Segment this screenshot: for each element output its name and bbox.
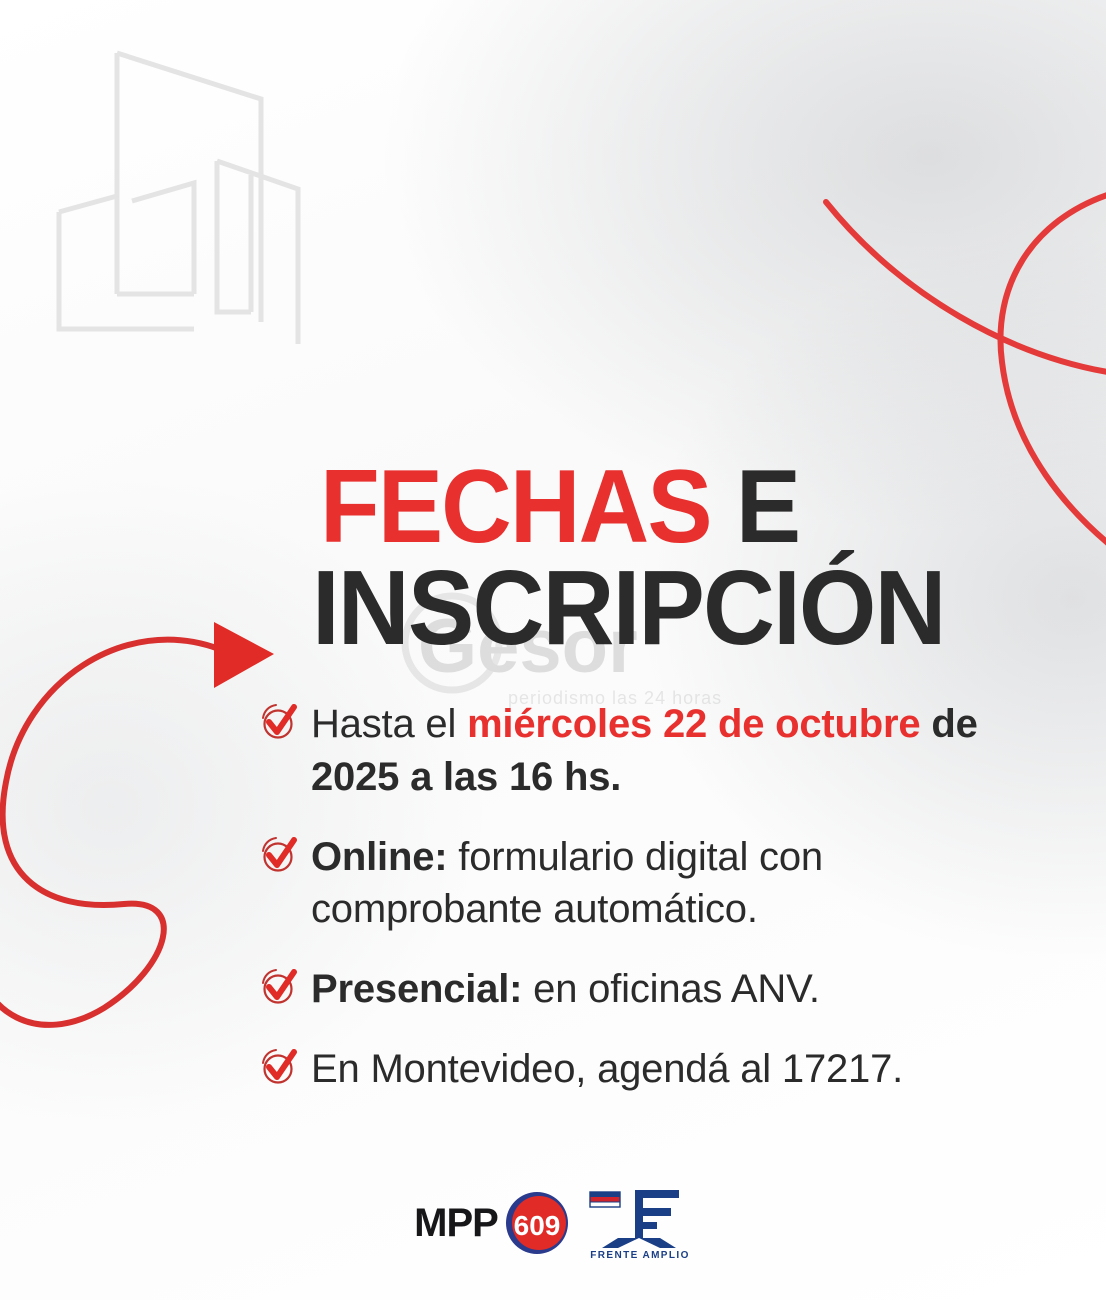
check-circle-icon bbox=[258, 1047, 298, 1087]
buildings-outline-icon bbox=[46, 44, 346, 384]
check-circle-icon bbox=[258, 967, 298, 1007]
check-circle-icon bbox=[258, 835, 298, 875]
frente-amplio-label: FRENTE AMPLIO bbox=[590, 1250, 690, 1260]
headline-line-1: FECHAS E bbox=[320, 458, 1008, 558]
bullet-list: Hasta el miércoles 22 de octubre de 2025… bbox=[258, 698, 1058, 1096]
bullet-4-part-0: En Montevideo, agendá al 17217. bbox=[311, 1047, 903, 1091]
frente-amplio-logo: FRENTE AMPLIO bbox=[588, 1186, 692, 1260]
headline-e: E bbox=[711, 449, 800, 565]
list-item: En Montevideo, agendá al 17217. bbox=[258, 1043, 1058, 1096]
609-badge-label: 609 bbox=[513, 1210, 560, 1241]
mpp-wordmark: MPP bbox=[414, 1201, 498, 1246]
list-item: Presencial: en oficinas ANV. bbox=[258, 963, 1058, 1016]
list-item-text: Online: formulario digital con comproban… bbox=[311, 831, 1058, 937]
footer-logos: MPP 609 FRE bbox=[0, 1186, 1106, 1260]
list-item-text: Presencial: en oficinas ANV. bbox=[311, 963, 820, 1016]
flag-icon bbox=[590, 1192, 620, 1207]
bullet-3-part-0: Presencial: bbox=[311, 967, 522, 1011]
mpp-logo: MPP 609 bbox=[414, 1190, 570, 1256]
arrow-head-icon bbox=[214, 622, 274, 688]
bullet-3-part-1: en oficinas ANV. bbox=[522, 967, 820, 1011]
609-badge-icon: 609 bbox=[504, 1190, 570, 1256]
headline-fechas: FECHAS bbox=[320, 449, 711, 565]
poster-canvas: Gesor periodismo las 24 horas FECHAS E I… bbox=[0, 0, 1106, 1300]
list-item: Hasta el miércoles 22 de octubre de 2025… bbox=[258, 698, 1058, 804]
list-item-text: En Montevideo, agendá al 17217. bbox=[311, 1043, 903, 1096]
headline-line-2: INSCRIPCIÓN bbox=[312, 558, 1008, 660]
check-circle-icon bbox=[258, 702, 298, 742]
bullet-1-part-1: miércoles 22 de octubre bbox=[467, 702, 920, 746]
page-title: FECHAS E INSCRIPCIÓN bbox=[312, 458, 1052, 660]
bullet-2-part-0: Online: bbox=[311, 835, 447, 879]
list-item: Online: formulario digital con comproban… bbox=[258, 831, 1058, 937]
list-item-text: Hasta el miércoles 22 de octubre de 2025… bbox=[311, 698, 1058, 804]
bullet-1-part-0: Hasta el bbox=[311, 702, 467, 746]
